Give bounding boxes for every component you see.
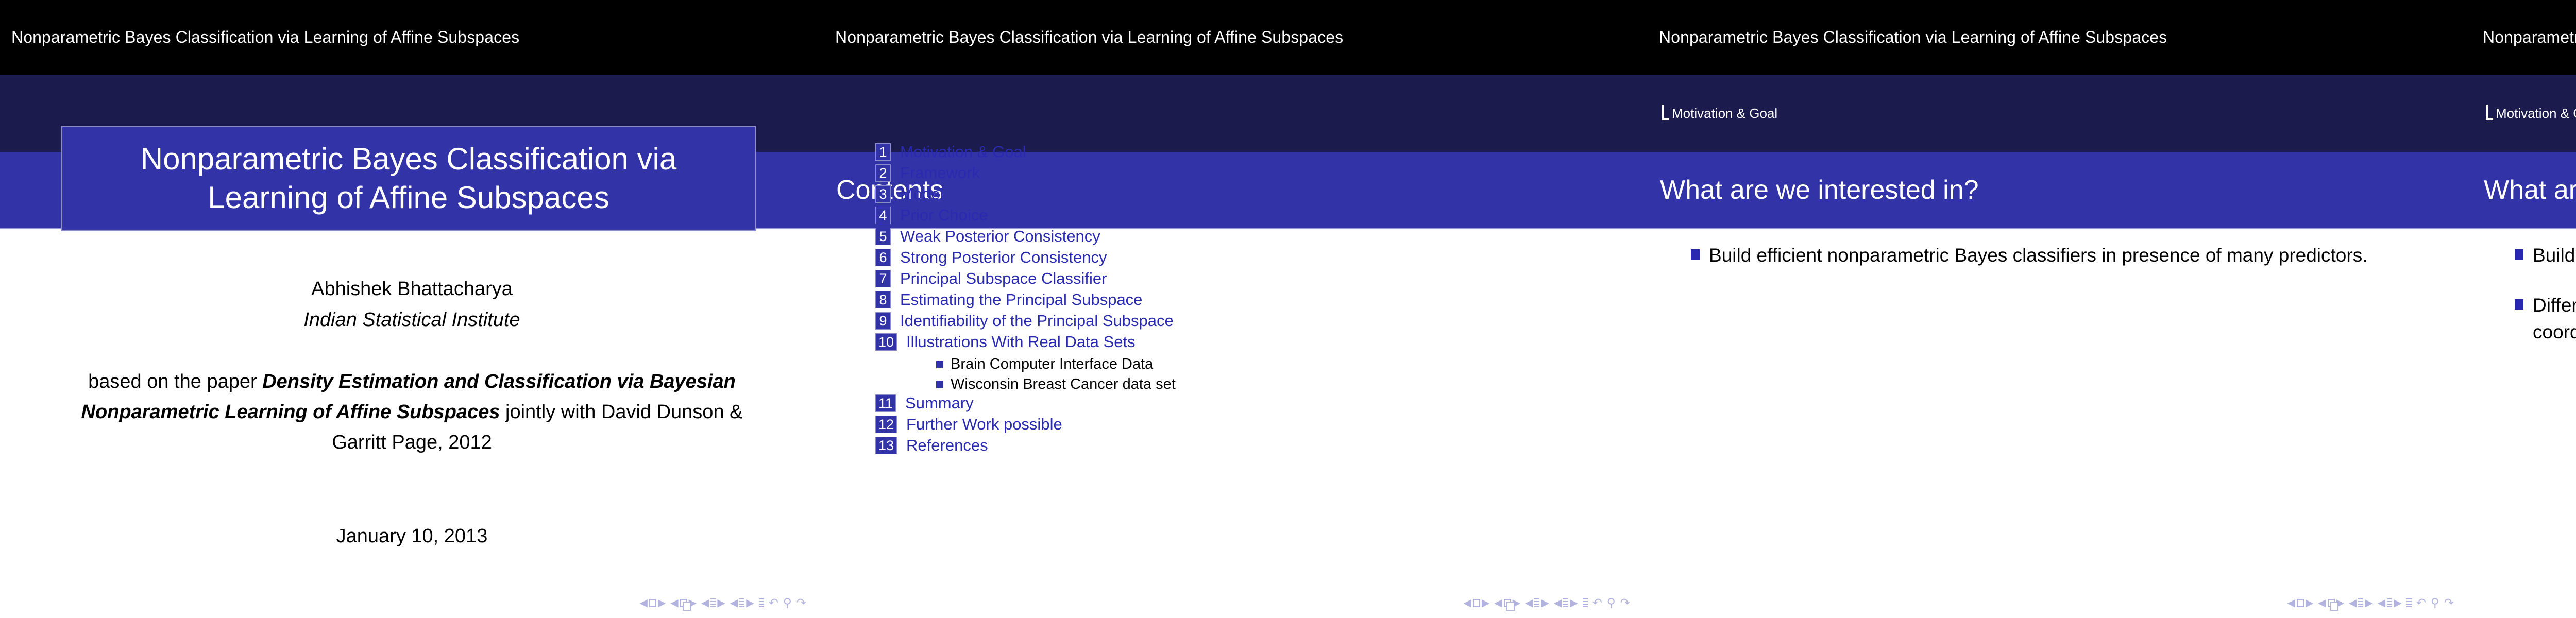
toc-label[interactable]: Prior Choice bbox=[900, 207, 988, 224]
running-title: Nonparametric Bayes Classification via L… bbox=[2483, 28, 2576, 47]
title-line-2: Learning of Affine Subspaces bbox=[62, 181, 755, 215]
section-bars-icon[interactable] bbox=[739, 598, 744, 608]
subsection-next-icon[interactable]: ▶ bbox=[1541, 598, 1549, 608]
toc-number: 1 bbox=[875, 143, 891, 161]
bullet-list: Build efficient nonparametric Bayes clas… bbox=[2471, 242, 2576, 369]
running-title: Nonparametric Bayes Classification via L… bbox=[835, 28, 1343, 47]
forward-icon[interactable]: ↷ bbox=[1620, 597, 1630, 609]
breadcrumb-label: Motivation & Goal bbox=[1672, 106, 1777, 122]
toc-number: 5 bbox=[875, 228, 891, 245]
running-title: Nonparametric Bayes Classification via L… bbox=[1659, 28, 2167, 47]
toc-label[interactable]: Illustrations With Real Data Sets bbox=[906, 333, 1136, 351]
section-prev-icon[interactable]: ◀ bbox=[1554, 598, 1562, 608]
presentation-date: January 10, 2013 bbox=[0, 525, 824, 547]
subsection-bars-icon[interactable] bbox=[710, 598, 716, 608]
toc-label[interactable]: Principal Subspace Classifier bbox=[900, 270, 1107, 287]
square-bullet-icon bbox=[2515, 249, 2523, 260]
slide-next-icon[interactable]: ▶ bbox=[2306, 598, 2313, 608]
toc-sublabel[interactable]: Brain Computer Interface Data bbox=[951, 356, 1153, 373]
toc-label[interactable]: Further Work possible bbox=[906, 416, 1062, 433]
frame-nav-group[interactable]: ◀ ▶ bbox=[2318, 598, 2344, 608]
slide-nav-group[interactable]: ◀ ▶ bbox=[1463, 598, 1489, 608]
toc-number: 2 bbox=[875, 164, 891, 182]
slide-2-contents[interactable]: Nonparametric Bayes Classification via L… bbox=[824, 0, 1648, 618]
toc-item-8[interactable]: 8 Estimating the Principal Subspace bbox=[839, 291, 1637, 311]
beamer-navigation-symbols[interactable]: ◀ ▶ ◀ ▶ ◀ ▶ ◀ ▶ ↶ ⚲ ↷ bbox=[639, 597, 806, 609]
toc-item-6[interactable]: 6 Strong Posterior Consistency bbox=[839, 249, 1637, 269]
paper-credit: based on the paper Density Estimation an… bbox=[52, 367, 772, 458]
toc-item-4[interactable]: 4 Prior Choice bbox=[839, 207, 1637, 227]
subsection-prev-icon[interactable]: ◀ bbox=[701, 598, 709, 608]
back-icon[interactable]: ↶ bbox=[769, 597, 778, 609]
toc-label[interactable]: Framework bbox=[900, 164, 980, 182]
subsection-bars-icon[interactable] bbox=[1534, 598, 1539, 608]
square-bullet-icon bbox=[936, 381, 943, 388]
toc-label[interactable]: Model bbox=[900, 185, 943, 203]
slide-box-icon[interactable] bbox=[2297, 599, 2304, 607]
section-next-icon[interactable]: ▶ bbox=[2394, 598, 2401, 608]
slide-next-icon[interactable]: ▶ bbox=[658, 598, 666, 608]
toc-number: 11 bbox=[875, 394, 896, 412]
bullet-text: Build efficient nonparametric Bayes clas… bbox=[2533, 242, 2576, 269]
toc-item-13[interactable]: 13 References bbox=[839, 437, 1637, 457]
running-title: Nonparametric Bayes Classification via L… bbox=[11, 28, 519, 47]
subsection-next-icon[interactable]: ▶ bbox=[2365, 598, 2372, 608]
breadcrumb: Motivation & Goal bbox=[2486, 106, 2576, 122]
section-nav-group[interactable]: ◀ ▶ bbox=[730, 598, 754, 608]
breadcrumb-label: Motivation & Goal bbox=[2496, 106, 2576, 122]
breadcrumb-bar: Motivation & Goal bbox=[1648, 75, 2471, 152]
toc-item-9[interactable]: 9 Identifiability of the Principal Subsp… bbox=[839, 312, 1637, 332]
toc-item-1[interactable]: 1 Motivation & Goal bbox=[839, 143, 1637, 163]
toc-sublabel[interactable]: Wisconsin Breast Cancer data set bbox=[951, 376, 1176, 393]
slide-box-icon[interactable] bbox=[1473, 599, 1480, 607]
section-prev-icon[interactable]: ◀ bbox=[2378, 598, 2385, 608]
forward-icon[interactable]: ↷ bbox=[796, 597, 806, 609]
back-icon[interactable]: ↶ bbox=[1592, 597, 1602, 609]
bullet-text: Different cell probabilities allowed to … bbox=[2533, 292, 2576, 346]
toc-subitem-wisconsin-breast-cancer[interactable]: Wisconsin Breast Cancer data set bbox=[936, 374, 1637, 394]
frame-box-icon[interactable] bbox=[2328, 599, 2335, 607]
toc-item-5[interactable]: 5 Weak Posterior Consistency bbox=[839, 228, 1637, 248]
toc-label[interactable]: Motivation & Goal bbox=[900, 143, 1026, 161]
beamer-navigation-symbols[interactable]: ◀ ▶ ◀ ▶ ◀ ▶ ◀ ▶ ↶ ⚲ ↷ bbox=[1463, 597, 1630, 609]
square-bullet-icon bbox=[936, 361, 943, 368]
frame-prev-icon[interactable]: ◀ bbox=[1494, 598, 1502, 608]
subsection-nav-group[interactable]: ◀ ▶ bbox=[2349, 598, 2373, 608]
subsection-next-icon[interactable]: ▶ bbox=[717, 598, 725, 608]
toc-item-7[interactable]: 7 Principal Subspace Classifier bbox=[839, 270, 1637, 290]
section-next-icon[interactable]: ▶ bbox=[1570, 598, 1578, 608]
frame-prev-icon[interactable]: ◀ bbox=[670, 598, 678, 608]
toc-label[interactable]: Summary bbox=[905, 394, 974, 412]
toc-number: 7 bbox=[875, 270, 891, 287]
bullet-item-1: Build efficient nonparametric Bayes clas… bbox=[1691, 242, 2435, 269]
section-prev-icon[interactable]: ◀ bbox=[730, 598, 738, 608]
toc-item-3[interactable]: 3 Model bbox=[839, 185, 1637, 205]
running-title-bar: Nonparametric Bayes Classification via L… bbox=[0, 0, 824, 75]
doc-bars-icon[interactable] bbox=[2406, 598, 2412, 608]
toc-number: 3 bbox=[875, 185, 891, 203]
section-bars-icon[interactable] bbox=[1563, 598, 1568, 608]
author-name: Abhishek Bhattacharya bbox=[0, 278, 824, 300]
slide-4-motivation-step-2[interactable]: Nonparametric Bayes Classification via L… bbox=[2471, 0, 2576, 618]
toc-number: 10 bbox=[875, 333, 897, 351]
search-icon[interactable]: ⚲ bbox=[783, 597, 792, 609]
running-title-bar: Nonparametric Bayes Classification via L… bbox=[1648, 0, 2471, 75]
toc-label[interactable]: Estimating the Principal Subspace bbox=[900, 291, 1142, 308]
frame-title-bar: What are we interested in? bbox=[2471, 152, 2576, 229]
section-next-icon[interactable]: ▶ bbox=[746, 598, 754, 608]
toc-item-10[interactable]: 10 Illustrations With Real Data Sets bbox=[839, 333, 1637, 353]
toc-item-11[interactable]: 11 Summary bbox=[839, 394, 1637, 415]
slide-prev-icon[interactable]: ◀ bbox=[639, 598, 647, 608]
forward-icon[interactable]: ↷ bbox=[2444, 597, 2454, 609]
slide-prev-icon[interactable]: ◀ bbox=[2287, 598, 2295, 608]
toc-number: 8 bbox=[875, 291, 891, 308]
toc-label[interactable]: Identifiability of the Principal Subspac… bbox=[900, 312, 1174, 330]
bullet-text: Build efficient nonparametric Bayes clas… bbox=[1709, 242, 2367, 269]
running-title-bar: Nonparametric Bayes Classification via L… bbox=[824, 0, 1648, 75]
presentation-title-box: Nonparametric Bayes Classification via L… bbox=[61, 126, 756, 231]
frame-box-icon[interactable] bbox=[680, 599, 687, 607]
breadcrumb-elbow-icon bbox=[1662, 105, 1669, 120]
subsection-bars-icon[interactable] bbox=[2358, 598, 2363, 608]
toc-number: 4 bbox=[875, 207, 891, 224]
breadcrumb-bar bbox=[824, 75, 1648, 152]
slide-box-icon[interactable] bbox=[649, 599, 656, 607]
bullet-item-2: Different cell probabilities allowed to … bbox=[2515, 292, 2576, 346]
bullet-list: Build efficient nonparametric Bayes clas… bbox=[1648, 242, 2471, 292]
breadcrumb-bar: Motivation & Goal bbox=[2471, 75, 2576, 152]
toc-number: 12 bbox=[875, 416, 897, 433]
frame-title: What are we interested in? bbox=[2484, 175, 2576, 205]
back-icon[interactable]: ↶ bbox=[2416, 597, 2426, 609]
paper-credit-prefix: based on the paper bbox=[88, 371, 262, 392]
table-of-contents[interactable]: 1 Motivation & Goal 2 Framework 3 Model … bbox=[839, 143, 1637, 458]
toc-label[interactable]: References bbox=[906, 437, 988, 454]
toc-number: 9 bbox=[875, 312, 891, 330]
subsection-prev-icon[interactable]: ◀ bbox=[2349, 598, 2357, 608]
breadcrumb: Motivation & Goal bbox=[1662, 106, 1777, 122]
slide-prev-icon[interactable]: ◀ bbox=[1463, 598, 1471, 608]
toc-number: 13 bbox=[875, 437, 897, 454]
toc-subitem-brain-computer-interface[interactable]: Brain Computer Interface Data bbox=[936, 354, 1637, 374]
doc-bars-icon[interactable] bbox=[1583, 598, 1588, 608]
bullet-item-1: Build efficient nonparametric Bayes clas… bbox=[2515, 242, 2576, 269]
slide-nav-group[interactable]: ◀ ▶ bbox=[639, 598, 666, 608]
breadcrumb-elbow-icon bbox=[2486, 105, 2493, 120]
slide-1-title[interactable]: Nonparametric Bayes Classification via L… bbox=[0, 0, 824, 618]
frame-box-icon[interactable] bbox=[1504, 599, 1511, 607]
subsection-nav-group[interactable]: ◀ ▶ bbox=[1525, 598, 1549, 608]
section-nav-group[interactable]: ◀ ▶ bbox=[1554, 598, 1578, 608]
running-title-bar: Nonparametric Bayes Classification via L… bbox=[2471, 0, 2576, 75]
toc-label[interactable]: Weak Posterior Consistency bbox=[900, 228, 1100, 245]
frame-title: What are we interested in? bbox=[1660, 175, 1979, 205]
slide-next-icon[interactable]: ▶ bbox=[1482, 598, 1489, 608]
search-icon[interactable]: ⚲ bbox=[1607, 597, 1616, 609]
title-line-1: Nonparametric Bayes Classification via bbox=[62, 143, 755, 176]
doc-bars-icon[interactable] bbox=[759, 598, 764, 608]
square-bullet-icon bbox=[2515, 299, 2523, 310]
subsection-prev-icon[interactable]: ◀ bbox=[1525, 598, 1533, 608]
beamer-navigation-symbols[interactable]: ◀ ▶ ◀ ▶ ◀ ▶ ◀ ▶ ↶ ⚲ ↷ bbox=[2287, 597, 2454, 609]
frame-title-bar: What are we interested in? bbox=[1648, 152, 2471, 229]
slide-nav-group[interactable]: ◀ ▶ bbox=[2287, 598, 2313, 608]
toc-label[interactable]: Strong Posterior Consistency bbox=[900, 249, 1107, 266]
author-institute: Indian Statistical Institute bbox=[0, 309, 824, 331]
frame-nav-group[interactable]: ◀ ▶ bbox=[670, 598, 697, 608]
toc-number: 6 bbox=[875, 249, 891, 266]
search-icon[interactable]: ⚲ bbox=[2431, 597, 2439, 609]
frame-nav-group[interactable]: ◀ ▶ bbox=[1494, 598, 1520, 608]
toc-item-2[interactable]: 2 Framework bbox=[839, 164, 1637, 184]
square-bullet-icon bbox=[1691, 249, 1700, 260]
toc-item-12[interactable]: 12 Further Work possible bbox=[839, 416, 1637, 436]
subsection-nav-group[interactable]: ◀ ▶ bbox=[701, 598, 725, 608]
slide-filmstrip: Nonparametric Bayes Classification via L… bbox=[0, 0, 2576, 618]
frame-prev-icon[interactable]: ◀ bbox=[2318, 598, 2326, 608]
section-bars-icon[interactable] bbox=[2387, 598, 2392, 608]
section-nav-group[interactable]: ◀ ▶ bbox=[2378, 598, 2402, 608]
slide-3-motivation-step-1[interactable]: Nonparametric Bayes Classification via L… bbox=[1648, 0, 2471, 618]
